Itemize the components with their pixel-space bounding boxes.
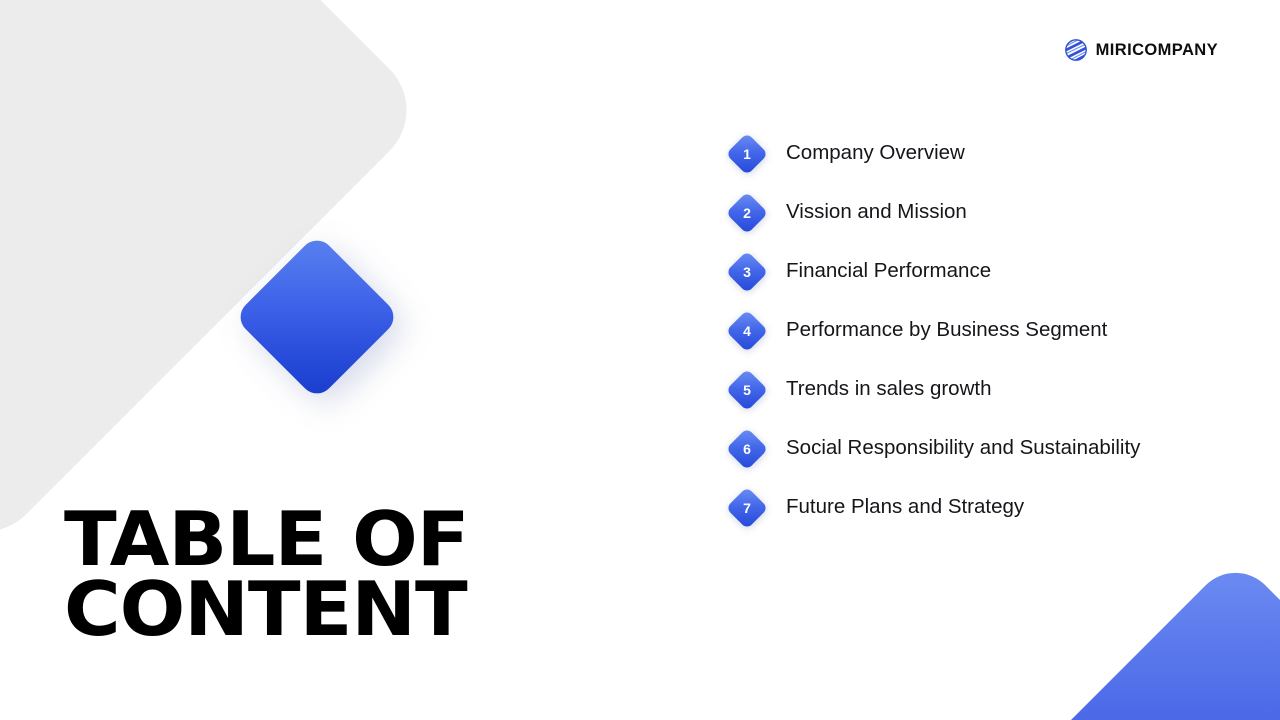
badge-number: 1 xyxy=(727,134,767,174)
badge-number: 3 xyxy=(727,252,767,292)
brand-name: MIRICOMPANY xyxy=(1096,42,1218,59)
list-item[interactable]: 4 Performance by Business Segment xyxy=(727,308,1140,353)
badge-number: 5 xyxy=(727,370,767,410)
slide-canvas: MIRICOMPANY TABLE OF CONTENT 1 Company O… xyxy=(0,0,1280,720)
number-badge-diamond-icon: 7 xyxy=(727,488,767,528)
list-item-label: Vission and Mission xyxy=(786,200,967,225)
list-item[interactable]: 7 Future Plans and Strategy xyxy=(727,485,1140,530)
gray-rotated-square-shape xyxy=(0,0,430,555)
list-item-label: Social Responsibility and Sustainability xyxy=(786,436,1140,461)
table-of-contents-list: 1 Company Overview 2 Vission and Mission… xyxy=(727,131,1140,530)
list-item[interactable]: 3 Financial Performance xyxy=(727,249,1140,294)
list-item[interactable]: 1 Company Overview xyxy=(727,131,1140,176)
list-item-label: Company Overview xyxy=(786,141,965,166)
number-badge-diamond-icon: 4 xyxy=(727,311,767,351)
page-title-line-2: CONTENT xyxy=(64,578,468,641)
list-item-label: Performance by Business Segment xyxy=(786,318,1107,343)
list-item-label: Future Plans and Strategy xyxy=(786,495,1024,520)
globe-icon xyxy=(1064,38,1088,62)
badge-number: 7 xyxy=(727,488,767,528)
badge-number: 4 xyxy=(727,311,767,351)
number-badge-diamond-icon: 2 xyxy=(727,193,767,233)
number-badge-diamond-icon: 5 xyxy=(727,370,767,410)
page-title-line-1: TABLE OF xyxy=(64,508,468,571)
list-item[interactable]: 2 Vission and Mission xyxy=(727,190,1140,235)
brand-logo: MIRICOMPANY xyxy=(1064,38,1218,62)
page-title: TABLE OF CONTENT xyxy=(64,508,457,641)
list-item-label: Financial Performance xyxy=(786,259,991,284)
list-item-label: Trends in sales growth xyxy=(786,377,991,402)
number-badge-diamond-icon: 3 xyxy=(727,252,767,292)
list-item[interactable]: 6 Social Responsibility and Sustainabili… xyxy=(727,426,1140,471)
badge-number: 2 xyxy=(727,193,767,233)
badge-number: 6 xyxy=(727,429,767,469)
list-item[interactable]: 5 Trends in sales growth xyxy=(727,367,1140,412)
number-badge-diamond-icon: 1 xyxy=(727,134,767,174)
number-badge-diamond-icon: 6 xyxy=(727,429,767,469)
blue-rotated-corner-shape xyxy=(1030,555,1280,720)
